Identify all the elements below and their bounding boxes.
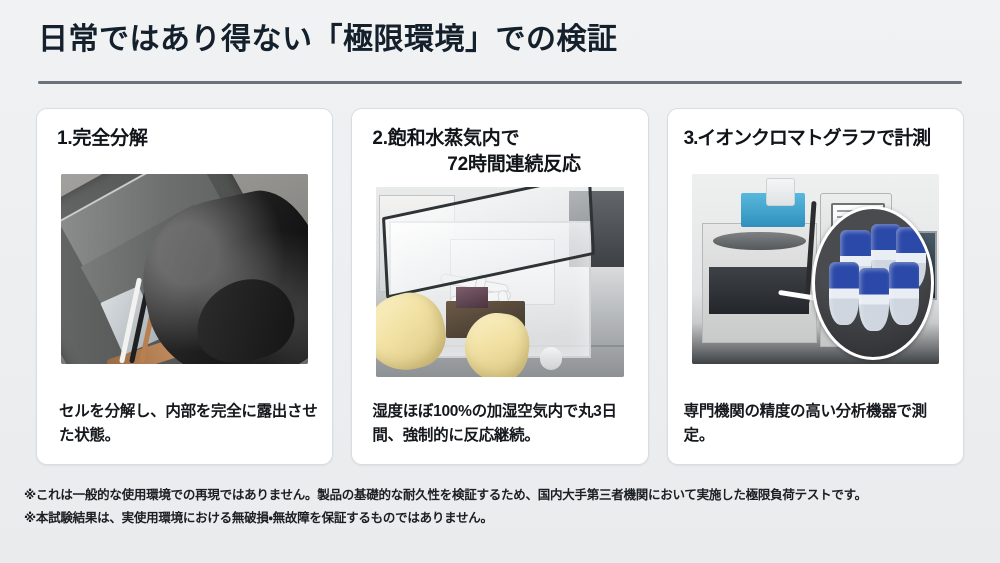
autosampler-tray-slot <box>709 267 809 314</box>
step-card-2-title: 2.飽和水蒸気内で 72時間連続反応 <box>352 109 647 178</box>
eluent-bottle <box>766 178 795 207</box>
step-card-2-caption: 湿度ほぼ100%の加湿空気内で丸3日間、強制的に反応継続。 <box>352 386 647 464</box>
sample-vial <box>829 262 859 324</box>
step-card-1-title: 1.完全分解 <box>37 109 332 152</box>
step-card-1-title-line1: 1.完全分解 <box>57 128 148 149</box>
vial-magnifier-callout <box>812 206 934 360</box>
step-card-3: 3.イオンクロマトグラフで計測 <box>667 108 964 465</box>
slide-header: 日常ではあり得ない「極限環境」での検証 <box>38 22 962 58</box>
glovebox-valve-knob <box>540 347 562 370</box>
step-card-1-caption: セルを分解し、内部を完全に露出させた状態。 <box>37 386 332 464</box>
page-title: 日常ではあり得ない「極限環境」での検証 <box>38 22 962 58</box>
title-divider <box>38 81 962 84</box>
sample-vial <box>889 262 919 324</box>
acrylic-glovebox-photo <box>376 187 623 377</box>
test-sample-block <box>456 287 488 308</box>
footnote-block: ※これは一般的な使用環境での再現ではありません。製品の基礎的な耐久性を検証するた… <box>24 484 980 530</box>
step-card-3-caption: 専門機関の精度の高い分析機器で測定。 <box>668 386 963 464</box>
step-card-3-title-line1: 3.イオンクロマトグラフで計測 <box>684 128 930 149</box>
step-card-1-photo-wrap <box>37 152 332 386</box>
step-card-2-title-line2: 72時間連続反応 <box>372 152 631 178</box>
step-card-3-title: 3.イオンクロマトグラフで計測 <box>668 109 963 152</box>
slide-root: 日常ではあり得ない「極限環境」での検証 1.完全分解 <box>0 0 1000 563</box>
step-card-2-photo-wrap <box>352 178 647 386</box>
autosampler-unit <box>702 223 818 343</box>
step-card-2: 2.飽和水蒸気内で 72時間連続反応 <box>351 108 648 465</box>
footnote-2: ※本試験結果は、実使用環境における無破損・無故障を保証するものではありません。 <box>24 507 980 530</box>
ion-chromatograph-photo <box>692 174 939 364</box>
step-card-2-title-line1: 2.飽和水蒸気内で <box>372 128 519 149</box>
steps-card-row: 1.完全分解 セルを分解し、内部を完全に露出させた状態。 <box>36 108 964 465</box>
step-card-3-photo-wrap <box>668 152 963 386</box>
sample-vial <box>859 268 889 330</box>
disassembled-battery-cell-photo <box>61 174 308 364</box>
step-card-1: 1.完全分解 セルを分解し、内部を完全に露出させた状態。 <box>36 108 333 465</box>
autosampler-lid <box>713 232 806 251</box>
footnote-1: ※これは一般的な使用環境での再現ではありません。製品の基礎的な耐久性を検証するた… <box>24 484 980 507</box>
